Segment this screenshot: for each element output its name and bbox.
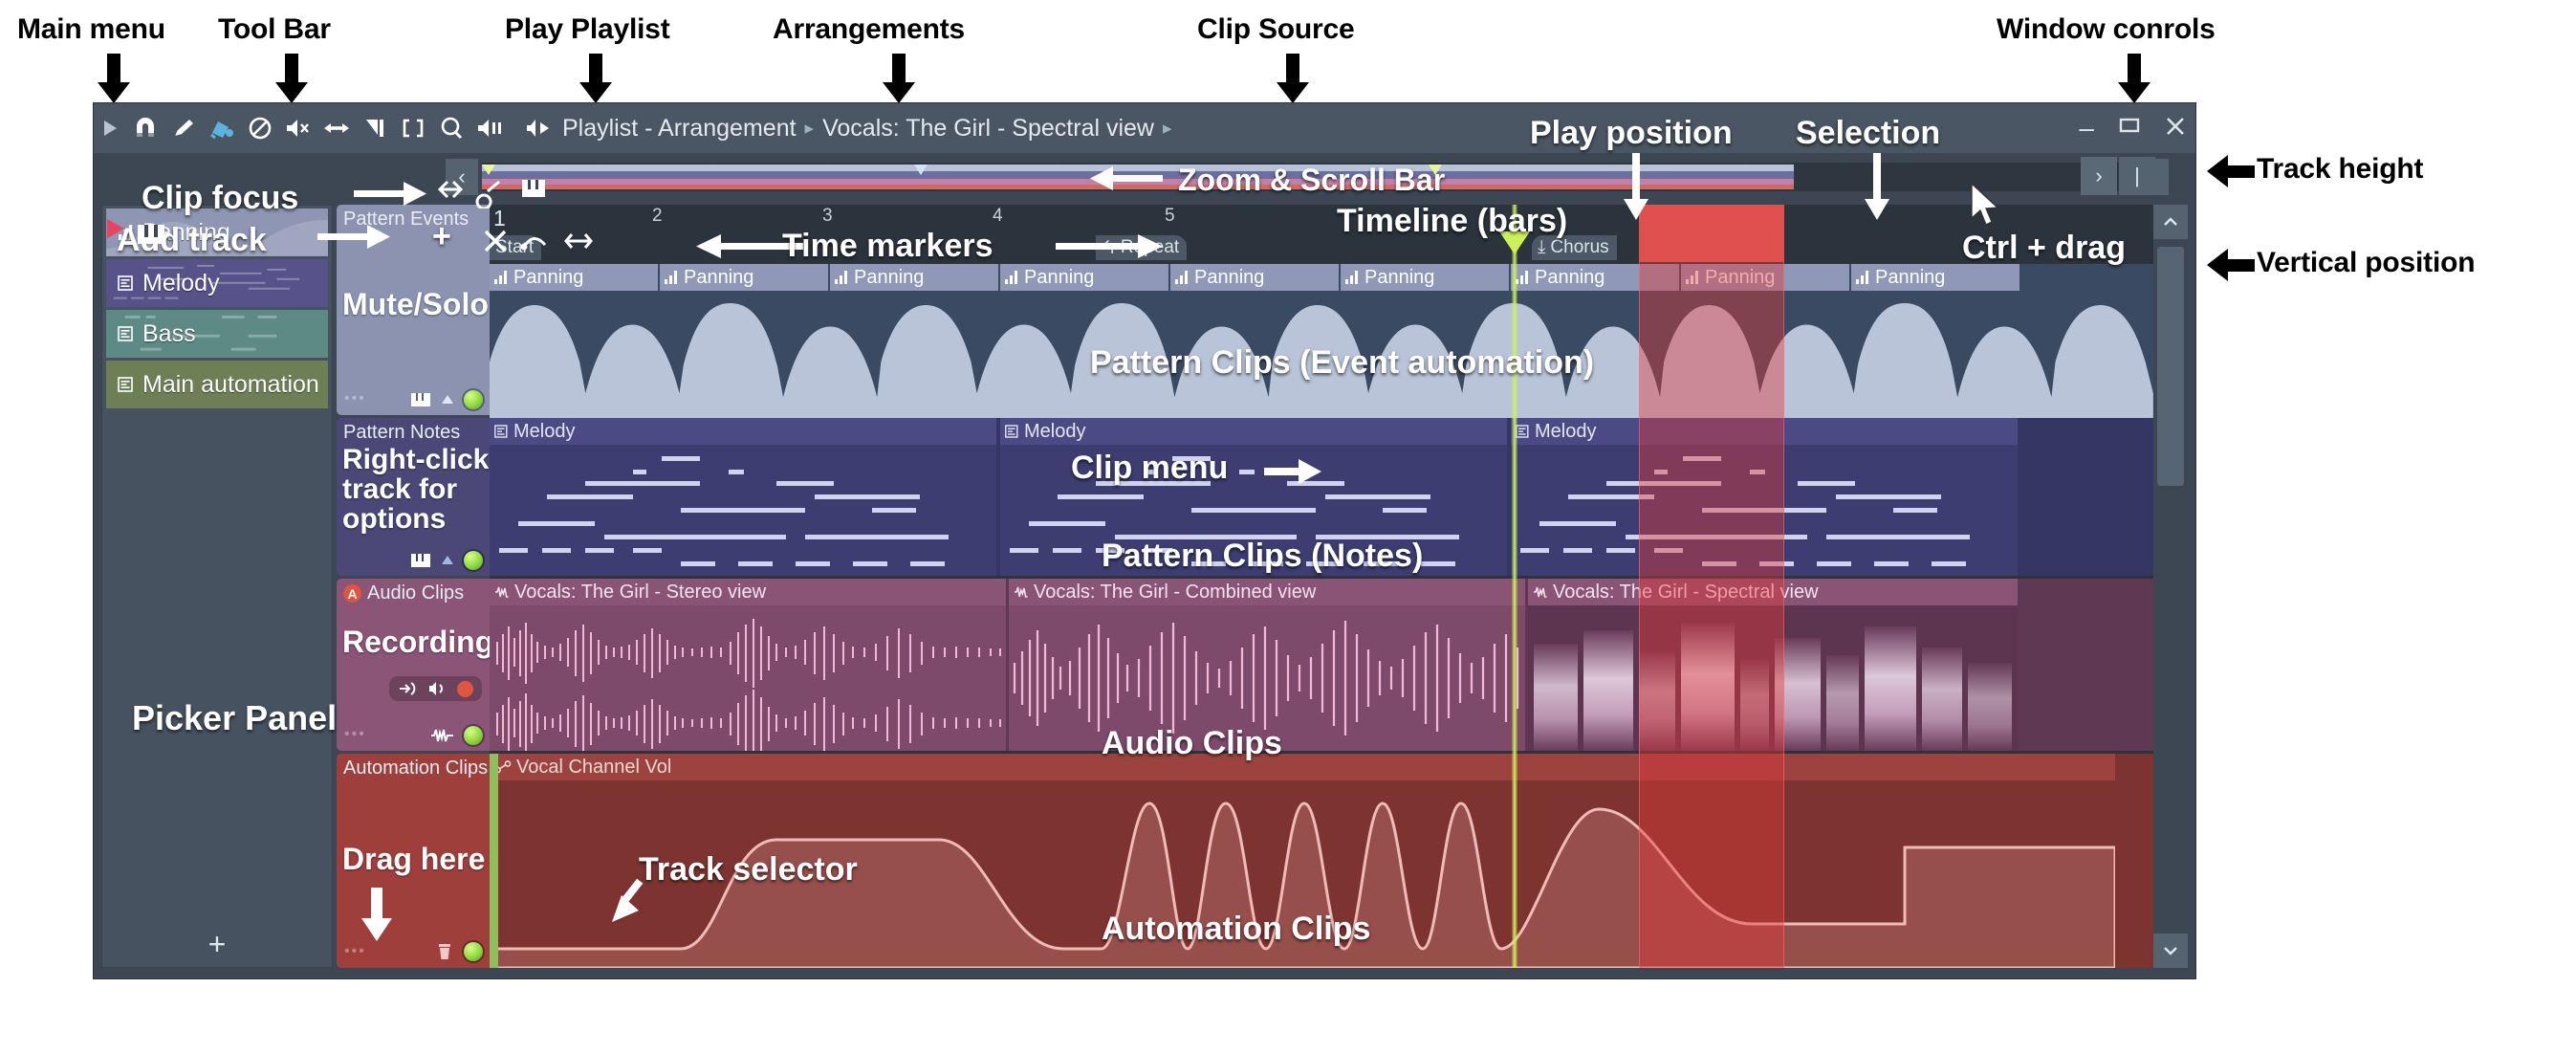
overlay-timeline-bars: Timeline (bars) <box>1337 203 1567 240</box>
spectral-view <box>1528 605 2018 751</box>
overlay-recording: Recording <box>342 626 490 658</box>
clip-label-panning-7: Panning <box>1535 267 1605 289</box>
melody-notes-3 <box>1511 445 2018 576</box>
vertical-scrollbar[interactable] <box>2153 205 2188 968</box>
automation-bars-icon-clip8 <box>1686 271 1700 284</box>
breadcrumb-clip-source[interactable]: Vocals: The Girl - Spectral view <box>822 115 1154 143</box>
clip-title-melody-3[interactable]: Melody <box>1511 418 2018 445</box>
clip-label-panning-3: Panning <box>854 267 924 289</box>
mixer-arrow-icon-2[interactable] <box>440 553 455 568</box>
track-controls-pattern-notes[interactable] <box>410 551 483 570</box>
mute-speaker-icon[interactable] <box>279 103 317 153</box>
close-button[interactable] <box>2165 116 2186 142</box>
mini-tick <box>1744 165 1746 170</box>
scroll-up-button[interactable] <box>2153 205 2188 239</box>
overlay-audio-clips: Audio Clips <box>1102 725 1282 762</box>
paint-brush-icon[interactable] <box>203 103 241 153</box>
track-handle-dots-auto[interactable]: ••• <box>344 943 366 960</box>
chorus-down-icon: ⤓ <box>1538 237 1545 258</box>
picker-add-button[interactable]: + <box>102 929 332 959</box>
track-lane-audio-clips[interactable]: Vocals: The Girl - Stereo view Vocals: T… <box>490 579 2153 751</box>
picker-item-bass[interactable]: Bass <box>106 310 328 358</box>
overlay-ctrl-drag: Ctrl + drag <box>1962 230 2126 267</box>
anno-arrowhead-vertical-position <box>2207 249 2228 281</box>
overlay-drag-here: Drag here <box>342 844 485 875</box>
audio-clip-icon-3 <box>1533 585 1548 599</box>
anno-arrow-vertical-position <box>2228 259 2255 272</box>
anno-tool-bar: Tool Bar <box>218 13 331 46</box>
clip-label-panning-4: Panning <box>1024 267 1094 289</box>
breadcrumb-arrangement[interactable]: Playlist - Arrangement <box>562 115 797 143</box>
clip-title-panning-5[interactable]: Panning <box>1170 264 1339 291</box>
clip-label-audio-combined: Vocals: The Girl - Combined view <box>1034 582 1316 604</box>
automation-bars-icon-clip9 <box>1856 271 1870 284</box>
pattern-notes-icon <box>114 274 139 292</box>
clip-panning-4[interactable]: Panning <box>1000 264 1168 415</box>
anno-window-controls: Window conrols <box>1997 13 2216 46</box>
track-selector-bar[interactable] <box>490 754 498 968</box>
mini-tick <box>1515 165 1517 170</box>
anno-vertical-position: Vertical position <box>2257 247 2475 279</box>
track-controls-automation[interactable] <box>434 941 483 962</box>
picker-label-melody: Melody <box>142 270 220 297</box>
overlay-pattern-clips-notes: Pattern Clips (Notes) <box>1102 538 1423 575</box>
clip-panning-6[interactable]: Panning <box>1341 264 1509 415</box>
piano-roll-icon-2[interactable] <box>410 552 431 569</box>
clip-panning-2[interactable]: Panning <box>660 264 828 415</box>
anno-main-menu: Main menu <box>17 13 165 46</box>
clip-panning-1[interactable]: Panning <box>490 264 658 415</box>
overlay-mute-solo: Mute/Solo <box>342 289 489 320</box>
anno-play-playlist: Play Playlist <box>505 13 670 46</box>
track-controls-pattern-events[interactable] <box>410 390 483 409</box>
clip-menu-arrow-icon <box>1264 457 1321 486</box>
picker-item-main-automation[interactable]: Main automation <box>106 361 328 408</box>
mixer-arrow-icon[interactable] <box>440 392 455 407</box>
chevron-right-icon: ▸ <box>805 118 815 140</box>
track-height-button[interactable]: › <box>2081 157 2117 195</box>
select-brackets-icon[interactable] <box>394 103 432 153</box>
anno-arrow-main-menu <box>107 54 120 84</box>
anno-arrowhead-play-playlist <box>579 82 612 103</box>
mini-tick <box>1056 165 1058 170</box>
piano-roll-icon[interactable] <box>410 391 431 408</box>
clip-title-panning-7[interactable]: Panning <box>1511 264 1679 291</box>
scroll-down-button[interactable] <box>2153 933 2188 968</box>
anno-arrow-tool-bar <box>285 54 298 84</box>
zoom-scroll-arrow-icon <box>1090 165 1163 193</box>
clip-panning-9[interactable]: Panning <box>1851 264 2019 415</box>
mini-marker-repeat <box>914 165 928 175</box>
track-name-automation-clips: Automation Clips <box>343 758 488 780</box>
add-track-piano-icon[interactable] <box>136 222 166 252</box>
clip-title-panning-9[interactable]: Panning <box>1851 264 2019 291</box>
track-enable-led[interactable] <box>464 390 483 409</box>
clip-panning-7[interactable]: Panning <box>1511 264 1679 415</box>
clip-title-panning-2[interactable]: Panning <box>660 264 828 291</box>
clip-panning-8[interactable]: Panning <box>1681 264 1849 415</box>
mouse-cursor-icon <box>1970 184 2002 230</box>
clip-label-panning-9: Panning <box>1875 267 1945 289</box>
track-lane-pattern-events[interactable]: Panning Panning Panning <box>490 264 2153 415</box>
clip-melody-1[interactable]: Melody <box>490 418 996 576</box>
clip-title-audio-combined[interactable]: Vocals: The Girl - Combined view <box>1009 579 1525 605</box>
overlay-zoom-scroll-bar: Zoom & Scroll Bar <box>1178 163 1445 198</box>
clip-title-melody-1[interactable]: Melody <box>490 418 996 445</box>
track-handle-dots[interactable]: ••• <box>344 390 366 407</box>
anno-arrowhead-clip-source <box>1277 82 1309 103</box>
audio-clip-icon-2 <box>1014 585 1029 599</box>
play-playlist-icon[interactable] <box>518 103 557 153</box>
vertical-position-button[interactable]: | <box>2119 157 2155 195</box>
clip-label-melody-2: Melody <box>1024 421 1085 443</box>
add-track-arrow-icon <box>317 223 390 252</box>
anno-arrangements: Arrangements <box>773 13 965 46</box>
anno-clip-source: Clip Source <box>1197 13 1355 46</box>
selection-top-band <box>1639 205 1784 262</box>
overlay-clip-menu: Clip menu <box>1071 450 1228 487</box>
audio-monitor-icon[interactable] <box>427 680 447 697</box>
record-arm-button[interactable] <box>457 681 473 697</box>
breadcrumb: Playlist - Arrangement ▸ Vocals: The Gir… <box>562 115 1181 143</box>
mini-tick <box>711 165 713 170</box>
automation-bars-icon-clip5 <box>1175 271 1190 284</box>
clip-label-melody-3: Melody <box>1535 421 1596 443</box>
overlay-picker-panel: Picker Panel <box>132 698 337 738</box>
clip-title-audio-spectral[interactable]: Vocals: The Girl - Spectral view <box>1528 579 2018 605</box>
clip-audio-spectral[interactable]: Vocals: The Girl - Spectral view <box>1528 579 2018 751</box>
track-controls-audio[interactable] <box>430 726 483 745</box>
anno-arrow-window-controls <box>2128 54 2141 84</box>
overlay-track-selector: Track selector <box>639 851 858 889</box>
audio-input-icon[interactable] <box>398 680 417 697</box>
clip-focus-toolbar-icons[interactable] <box>430 170 564 209</box>
clip-title-panning-4[interactable]: Panning <box>1000 264 1168 291</box>
clip-label-panning-2: Panning <box>684 267 753 289</box>
clip-audio-stereo[interactable]: Vocals: The Girl - Stereo view <box>490 579 1006 751</box>
anno-track-height: Track height <box>2257 153 2423 186</box>
track-headers: Pattern Events Mute/Solo ••• Pattern Not… <box>337 205 490 968</box>
mini-tick <box>826 165 828 170</box>
overlay-play-position: Play position <box>1530 115 1733 152</box>
pattern-notes-icon-bass <box>114 325 139 342</box>
anno-arrow-arrangements <box>892 54 906 84</box>
automation-bars-icon-clip6 <box>1345 271 1360 284</box>
time-markers-right-arrow-icon <box>1056 232 1163 261</box>
resize-arrows-icon[interactable] <box>317 103 356 153</box>
clip-label-audio-stereo: Vocals: The Girl - Stereo view <box>514 582 766 604</box>
bar-number-2: 2 <box>652 206 663 227</box>
zoom-tool-icon[interactable] <box>432 103 470 153</box>
waveform-icon[interactable] <box>430 727 455 744</box>
overlay-selection: Selection <box>1796 115 1940 152</box>
track-name-audio-clips: Audio Clips <box>367 582 464 604</box>
minimize-button[interactable]: – <box>2079 123 2094 133</box>
chevron-right-icon-2: ▸ <box>1163 118 1172 140</box>
clip-melody-3[interactable]: Melody <box>1511 418 2018 576</box>
anno-arrow-play-playlist <box>589 54 602 84</box>
clip-focus-arrow-icon <box>354 180 426 209</box>
clip-label-automation: Vocal Channel Vol <box>516 757 671 779</box>
add-track-plus-icon[interactable]: + <box>432 218 451 255</box>
overlay-pattern-clips-events: Pattern Clips (Event automation) <box>1090 344 1594 382</box>
anno-arrowhead-window-controls <box>2118 82 2150 103</box>
picker-label-bass: Bass <box>142 320 196 348</box>
clip-label-panning-1: Panning <box>513 267 583 289</box>
track-header-automation-clips[interactable]: Automation Clips Drag here ••• <box>337 754 490 968</box>
track-header-audio-clips[interactable]: Audio Clips A Recording ••• <box>337 579 490 751</box>
maximize-button[interactable] <box>2119 117 2140 140</box>
clip-label-panning-5: Panning <box>1194 267 1264 289</box>
automation-bars-icon-clip <box>494 271 509 284</box>
pattern-notes-icon-clip2 <box>1005 425 1019 439</box>
clip-title-panning-1[interactable]: Panning <box>490 264 658 291</box>
track-enable-led-2[interactable] <box>464 551 483 570</box>
time-marker-chorus-label: Chorus <box>1550 237 1608 258</box>
anno-arrow-clip-source <box>1286 54 1299 84</box>
playback-tool-icon[interactable] <box>470 103 509 153</box>
track-enable-led-4[interactable] <box>464 942 483 961</box>
clip-label-panning-8: Panning <box>1705 267 1775 289</box>
play-position-arrow-icon <box>1622 153 1650 222</box>
clip-title-melody-2[interactable]: Melody <box>1000 418 1507 445</box>
pattern-notes-icon-main <box>114 376 139 393</box>
clip-title-panning-8[interactable]: Panning <box>1681 264 1849 291</box>
pattern-notes-icon-clip3 <box>1516 425 1530 439</box>
mute-slip-icon[interactable] <box>241 103 279 153</box>
clip-label-melody-1: Melody <box>513 421 575 443</box>
picker-item-melody[interactable]: Melody <box>106 259 328 307</box>
overlay-automation-clips: Automation Clips <box>1102 911 1370 948</box>
track-enable-led-3[interactable] <box>464 726 483 745</box>
audio-warning-icon[interactable]: A <box>343 584 361 603</box>
automation-bars-icon-clip3 <box>835 271 849 284</box>
vertical-scroll-thumb[interactable] <box>2157 247 2184 486</box>
clip-title-panning-6[interactable]: Panning <box>1341 264 1509 291</box>
overlay-time-markers: Time markers <box>782 228 993 265</box>
clip-label-audio-spectral: Vocals: The Girl - Spectral view <box>1553 582 1819 604</box>
picker-label-main-automation: Main automation <box>142 371 319 399</box>
magnet-snap-icon[interactable] <box>126 103 164 153</box>
bar-number-3: 3 <box>822 206 833 227</box>
mini-tick <box>597 165 599 170</box>
slice-tool-icon[interactable] <box>356 103 394 153</box>
audio-clip-icon <box>494 585 510 599</box>
bar-number-4: 4 <box>993 206 1003 227</box>
track-name-pattern-notes: Pattern Notes <box>343 422 460 444</box>
add-track-toolbar-icons[interactable] <box>482 226 616 256</box>
anno-arrowhead-arrangements <box>883 82 915 103</box>
clip-title-panning-3[interactable]: Panning <box>830 264 998 291</box>
anno-arrowhead-track-height <box>2207 155 2228 187</box>
audio-input-row[interactable] <box>389 676 482 701</box>
clip-panning-3[interactable]: Panning <box>830 264 998 415</box>
automation-bars-icon-clip7 <box>1516 271 1530 284</box>
overlay-clip-focus: Clip focus <box>142 180 298 217</box>
trash-icon[interactable] <box>434 941 455 962</box>
window-controls: – <box>2079 103 2186 153</box>
track-handle-dots-audio[interactable]: ••• <box>344 726 366 743</box>
pencil-draw-icon[interactable] <box>164 103 203 153</box>
mini-tick <box>1170 165 1172 170</box>
overlay-right-click: Right-click track for options <box>342 445 489 535</box>
pattern-notes-icon-clip <box>494 425 509 439</box>
anno-arrow-track-height <box>2228 165 2255 178</box>
drag-here-down-arrow-icon <box>360 888 394 943</box>
picker-panel[interactable]: Panning Melody <box>101 205 333 968</box>
waveform-stereo <box>490 605 1006 751</box>
clip-title-audio-stereo[interactable]: Vocals: The Girl - Stereo view <box>490 579 1006 605</box>
anno-arrowhead-main-menu <box>98 82 130 103</box>
track-selector-arrow-icon <box>612 878 656 926</box>
bar-number-5: 5 <box>1165 206 1175 227</box>
track-header-pattern-notes[interactable]: Pattern Notes Right-click track for opti… <box>337 418 490 576</box>
clip-label-panning-6: Panning <box>1364 267 1434 289</box>
automation-bars-icon-clip4 <box>1005 271 1019 284</box>
picker-thumb-bass <box>106 310 328 358</box>
play-arrow-icon[interactable] <box>94 103 126 153</box>
melody-notes-1 <box>490 445 996 576</box>
clip-title-automation[interactable]: Vocal Channel Vol <box>490 754 2115 780</box>
clip-panning-5[interactable]: Panning <box>1170 264 1339 415</box>
selection-arrow-icon <box>1863 153 1891 222</box>
automation-bars-icon-clip2 <box>665 271 679 284</box>
anno-arrowhead-tool-bar <box>275 82 308 103</box>
